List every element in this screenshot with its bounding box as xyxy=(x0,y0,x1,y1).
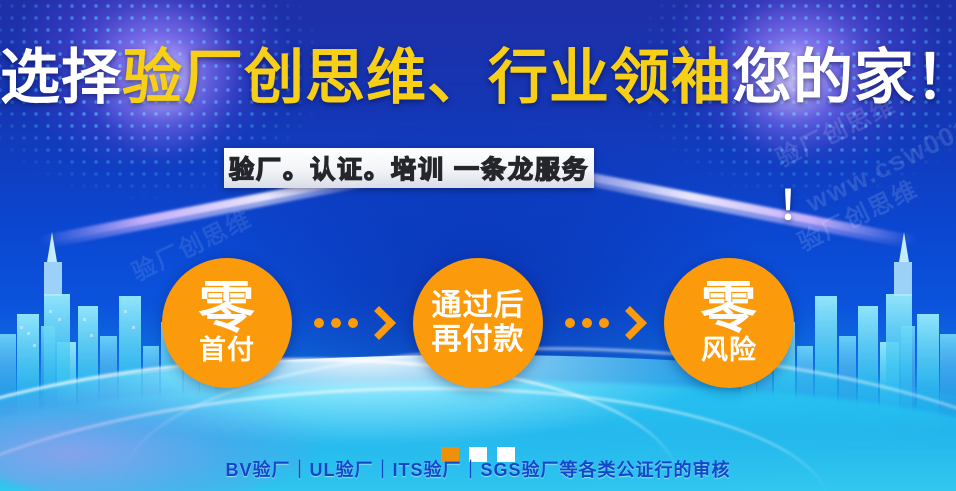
arrow-dot xyxy=(314,318,324,328)
headline: 选择验厂创思维、行业领袖您的家！ xyxy=(0,48,956,108)
subtitle-bar: 验厂。认证。培训 一条龙服务 xyxy=(224,148,594,188)
arrow-dot xyxy=(331,318,341,328)
exclamation-mark: ！ xyxy=(778,186,818,226)
step-1-small-text: 首付 xyxy=(199,336,255,365)
step-2-line-1: 通过后 xyxy=(432,289,525,323)
arrow-dot xyxy=(582,318,592,328)
step-circle-zero-downpayment[interactable]: 零 首付 xyxy=(162,258,292,388)
headline-part-3: 您的家！ xyxy=(732,44,956,111)
step-1-big-text: 零 xyxy=(199,281,256,334)
step-2-line-2: 再付款 xyxy=(432,323,525,357)
footer-caption: BV验厂｜UL验厂｜ITS验厂｜SGS验厂等各类公证行的审核 xyxy=(0,456,956,482)
step-arrow-1 xyxy=(314,311,391,335)
headline-part-1: 选择 xyxy=(0,44,122,111)
step-3-big-text: 零 xyxy=(701,281,758,334)
subtitle-text: 验厂。认证。培训 一条龙服务 xyxy=(229,150,589,186)
chevron-right-icon xyxy=(613,306,647,340)
chevron-right-icon xyxy=(362,306,396,340)
step-arrow-2 xyxy=(565,311,642,335)
arrow-dot xyxy=(348,318,358,328)
step-3-small-text: 风险 xyxy=(701,336,757,365)
headline-part-2: 验厂创思维、行业领袖 xyxy=(122,44,732,111)
promo-banner: 选择验厂创思维、行业领袖您的家！ 验厂。认证。培训 一条龙服务 ！ 零 首付 通… xyxy=(0,0,956,491)
step-circle-zero-risk[interactable]: 零 风险 xyxy=(664,258,794,388)
step-circle-pay-after-pass[interactable]: 通过后 再付款 xyxy=(413,258,543,388)
steps-row: 零 首付 通过后 再付款 零 风险 xyxy=(0,258,956,388)
arrow-dot xyxy=(599,318,609,328)
arrow-dot xyxy=(565,318,575,328)
